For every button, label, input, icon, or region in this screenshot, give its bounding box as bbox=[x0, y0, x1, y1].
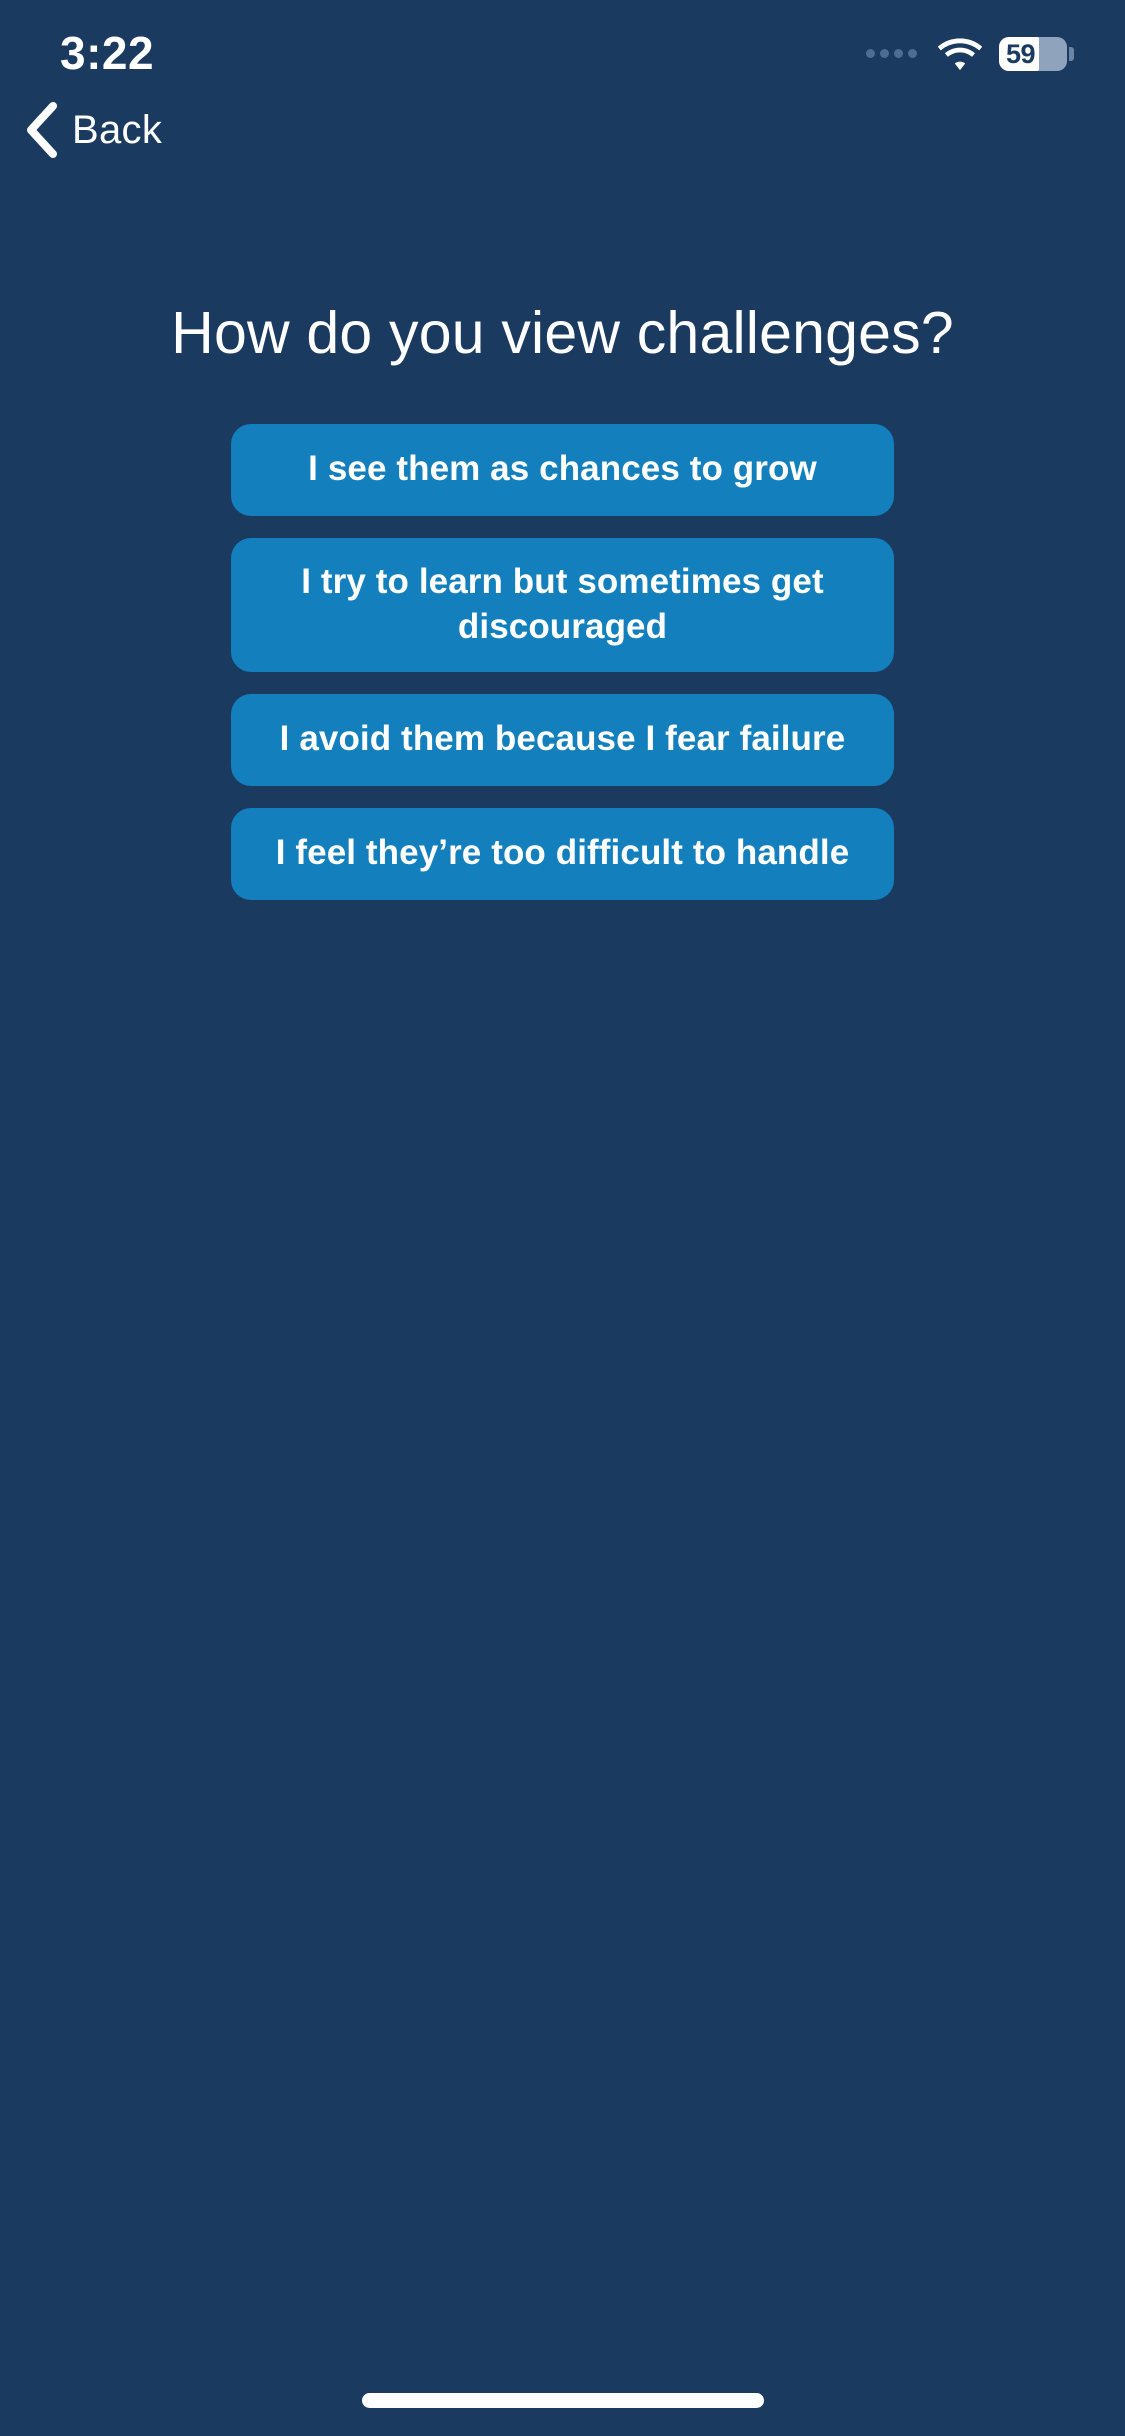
status-bar-time: 3:22 bbox=[60, 30, 154, 76]
answer-option-3[interactable]: I avoid them because I fear failure bbox=[231, 694, 894, 786]
battery-cap bbox=[1069, 47, 1074, 61]
wifi-icon bbox=[937, 37, 983, 71]
cellular-dots-icon bbox=[866, 49, 917, 58]
answer-option-2[interactable]: I try to learn but sometimes get discour… bbox=[231, 538, 894, 672]
home-indicator[interactable] bbox=[362, 2393, 764, 2408]
answer-option-1[interactable]: I see them as chances to grow bbox=[231, 424, 894, 516]
status-bar-indicators: 59 bbox=[866, 37, 1067, 71]
status-bar: 3:22 59 bbox=[0, 0, 1125, 100]
back-button-label: Back bbox=[72, 110, 162, 150]
battery-icon: 59 bbox=[999, 37, 1067, 71]
answer-option-4[interactable]: I feel they’re too difficult to handle bbox=[231, 808, 894, 900]
navigation-bar: Back bbox=[0, 96, 1125, 166]
answer-options-list: I see them as chances to grow I try to l… bbox=[0, 424, 1125, 900]
main-content: How do you view challenges? I see them a… bbox=[0, 300, 1125, 900]
battery-level-text: 59 bbox=[999, 41, 1035, 68]
back-button[interactable]: Back bbox=[16, 96, 178, 164]
page-title: How do you view challenges? bbox=[0, 300, 1125, 368]
chevron-left-icon bbox=[24, 102, 58, 158]
